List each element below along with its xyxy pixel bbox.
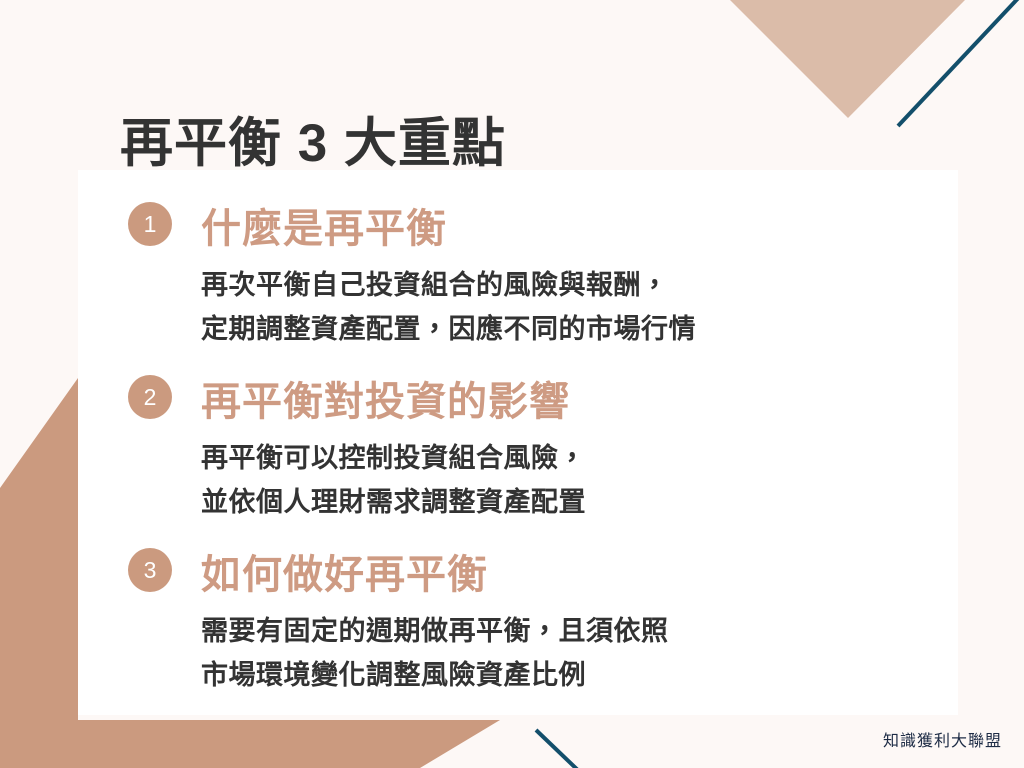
- point-heading: 再平衡對投資的影響: [201, 369, 570, 427]
- diagonal-line-decoration-icon: [880, 0, 1024, 140]
- point-heading: 如何做好再平衡: [201, 542, 488, 600]
- point-heading: 什麼是再平衡: [201, 196, 447, 254]
- point-number-badge: 1: [128, 202, 172, 246]
- point-header: 3 如何做好再平衡: [78, 548, 958, 600]
- point-header: 1 什麼是再平衡: [78, 202, 958, 254]
- slide-canvas: 再平衡 3 大重點 1 什麼是再平衡 再次平衡自己投資組合的風險與報酬， 定期調…: [0, 0, 1024, 768]
- point-body-line: 再平衡可以控制投資組合風險，: [201, 437, 586, 481]
- content-card: 1 什麼是再平衡 再次平衡自己投資組合的風險與報酬， 定期調整資產配置，因應不同…: [78, 170, 958, 715]
- point-body-line: 再次平衡自己投資組合的風險與報酬，: [201, 264, 696, 308]
- point-body-line: 需要有固定的週期做再平衡，且須依照: [201, 610, 669, 654]
- page-title: 再平衡 3 大重點: [120, 114, 506, 175]
- list-item: 1 什麼是再平衡 再次平衡自己投資組合的風險與報酬， 定期調整資產配置，因應不同…: [78, 202, 958, 254]
- triangle-decoration-icon: [690, 0, 1024, 140]
- list-item: 2 再平衡對投資的影響 再平衡可以控制投資組合風險， 並依個人理財需求調整資產配…: [78, 375, 958, 427]
- point-body-line: 並依個人理財需求調整資產配置: [201, 481, 586, 525]
- point-body: 再平衡可以控制投資組合風險， 並依個人理財需求調整資產配置: [201, 437, 586, 524]
- point-body: 需要有固定的週期做再平衡，且須依照 市場環境變化調整風險資產比例: [201, 610, 669, 697]
- point-body-line: 定期調整資產配置，因應不同的市場行情: [201, 308, 696, 352]
- point-number-badge: 2: [128, 375, 172, 419]
- list-item: 3 如何做好再平衡 需要有固定的週期做再平衡，且須依照 市場環境變化調整風險資產…: [78, 548, 958, 600]
- point-body: 再次平衡自己投資組合的風險與報酬， 定期調整資產配置，因應不同的市場行情: [201, 264, 696, 351]
- point-header: 2 再平衡對投資的影響: [78, 375, 958, 427]
- footer-brand: 知識獲利大聯盟: [883, 727, 1002, 751]
- point-body-line: 市場環境變化調整風險資產比例: [201, 654, 669, 698]
- point-number-badge: 3: [128, 548, 172, 592]
